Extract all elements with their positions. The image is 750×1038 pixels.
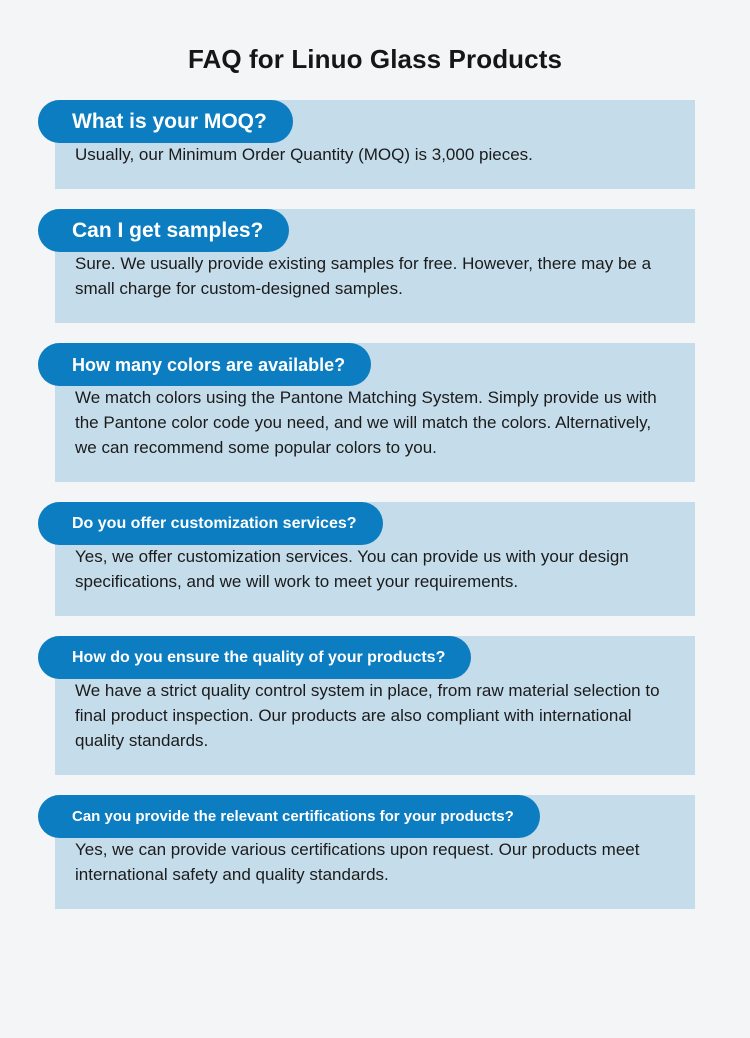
faq-item: How do you ensure the quality of your pr… (0, 636, 750, 775)
faq-question-label: Can I get samples? (72, 220, 263, 241)
faq-question-label: Can you provide the relevant certificati… (72, 809, 514, 824)
faq-item: What is your MOQ? Usually, our Minimum O… (0, 100, 750, 189)
faq-item: How many colors are available? We match … (0, 343, 750, 482)
faq-page: FAQ for Linuo Glass Products What is you… (0, 0, 750, 1038)
faq-question-pill-4[interactable]: Do you offer customization services? (38, 502, 383, 545)
faq-question-pill-3[interactable]: How many colors are available? (38, 343, 371, 386)
faq-question-label: Do you offer customization services? (72, 516, 357, 532)
faq-answer-text: We have a strict quality control system … (75, 678, 675, 753)
faq-question-label: How do you ensure the quality of your pr… (72, 650, 445, 666)
faq-item: Do you offer customization services? Yes… (0, 502, 750, 616)
faq-question-pill-6[interactable]: Can you provide the relevant certificati… (38, 795, 540, 838)
faq-list: What is your MOQ? Usually, our Minimum O… (0, 76, 750, 909)
faq-question-label: What is your MOQ? (72, 111, 267, 132)
faq-answer-text: We match colors using the Pantone Matchi… (75, 385, 675, 460)
faq-question-pill-1[interactable]: What is your MOQ? (38, 100, 293, 143)
faq-question-label: How many colors are available? (72, 356, 345, 374)
faq-question-pill-5[interactable]: How do you ensure the quality of your pr… (38, 636, 471, 679)
faq-answer-text: Yes, we can provide various certificatio… (75, 837, 675, 887)
faq-answer-text: Usually, our Minimum Order Quantity (MOQ… (75, 142, 675, 167)
faq-item: Can I get samples? Sure. We usually prov… (0, 209, 750, 323)
page-title: FAQ for Linuo Glass Products (0, 0, 750, 76)
faq-question-pill-2[interactable]: Can I get samples? (38, 209, 289, 252)
faq-item: Can you provide the relevant certificati… (0, 795, 750, 909)
faq-answer-text: Sure. We usually provide existing sample… (75, 251, 675, 301)
faq-answer-text: Yes, we offer customization services. Yo… (75, 544, 675, 594)
